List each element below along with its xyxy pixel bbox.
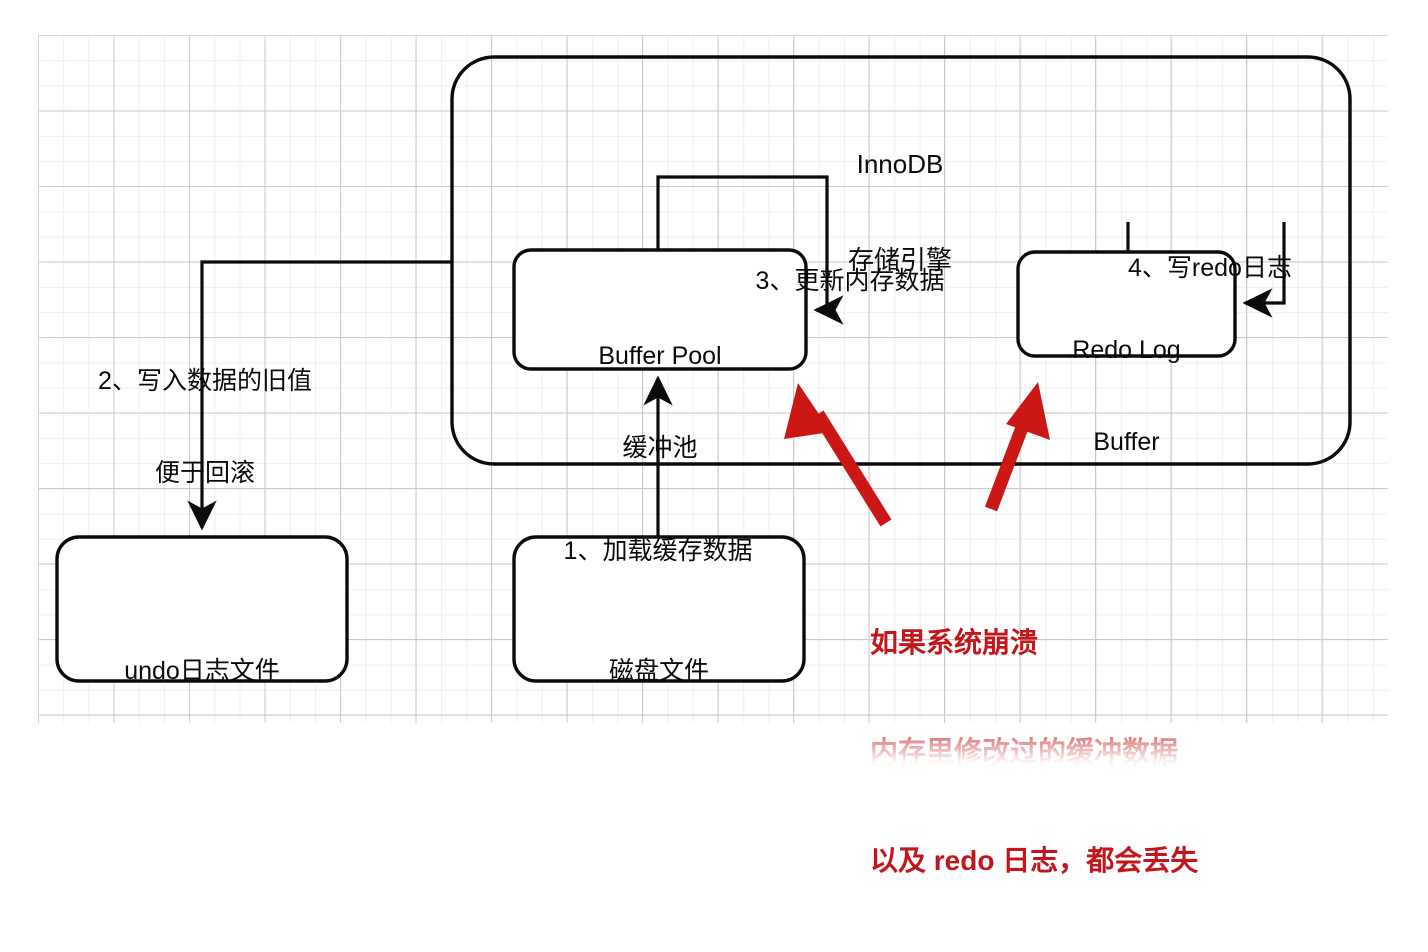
crash-warning-note: 如果系统崩溃 内存里修改过的缓冲数据 以及 redo 日志，都会丢失 <box>870 552 1350 952</box>
undo-log-file-label-line1: undo日志文件 <box>57 656 347 687</box>
step-3-label: 3、更新内存数据 <box>700 205 1000 358</box>
step-4-label: 4、写redo日志 <box>1080 192 1340 345</box>
crash-warning-line1: 如果系统崩溃 <box>870 625 1350 661</box>
step-4-label-text: 4、写redo日志 <box>1080 253 1340 284</box>
crash-warning-line2: 内存里修改过的缓冲数据 <box>870 734 1350 770</box>
step-1-label-text: 1、加载缓存数据 <box>508 536 808 567</box>
step-1-label: 1、加载缓存数据 <box>508 475 808 628</box>
step-3-label-text: 3、更新内存数据 <box>700 266 1000 297</box>
redo-log-buffer-label-line2: Buffer <box>1018 427 1235 458</box>
diagram-canvas: InnoDB 存储引擎 Buffer Pool 缓冲池 Redo Log Buf… <box>0 0 1428 764</box>
crash-warning-line3: 以及 redo 日志，都会丢失 <box>870 843 1350 879</box>
undo-log-file-label: undo日志文件 <box>57 595 347 748</box>
step-2-label-line1: 2、写入数据的旧值 <box>62 366 348 397</box>
disk-file-label-line1: 磁盘文件 <box>514 656 804 687</box>
buffer-pool-label-line2: 缓冲池 <box>514 433 806 464</box>
step-2-label: 2、写入数据的旧值 便于回滚 <box>62 305 348 549</box>
step-2-label-line2: 便于回滚 <box>62 458 348 489</box>
innodb-title-line1: InnoDB <box>660 149 1140 181</box>
